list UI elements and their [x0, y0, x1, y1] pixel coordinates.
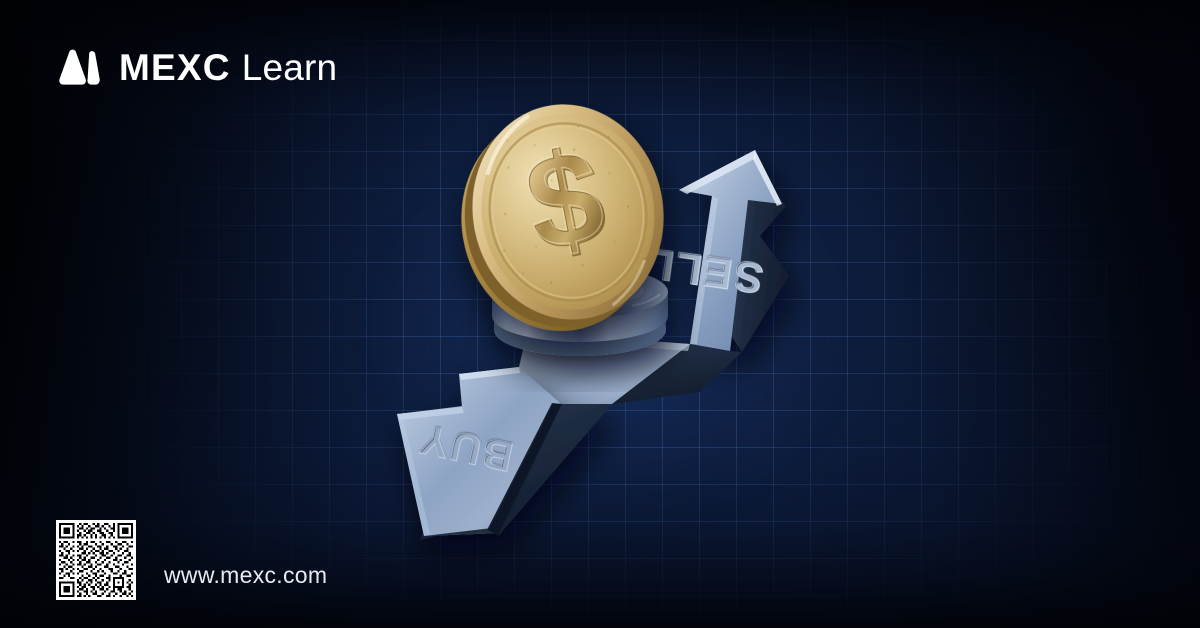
qr-code[interactable] — [56, 520, 136, 600]
brand-logo[interactable]: MEXC Learn — [56, 48, 337, 86]
mexc-mountain-logo-icon — [56, 48, 102, 86]
product-name: Learn — [242, 49, 338, 86]
footer: www.mexc.com — [56, 520, 327, 600]
website-url[interactable]: www.mexc.com — [164, 562, 327, 589]
promo-banner: SELL SELL — [0, 0, 1200, 628]
logo-wordmark: MEXC Learn — [119, 49, 337, 86]
brand-name: MEXC — [119, 49, 231, 86]
